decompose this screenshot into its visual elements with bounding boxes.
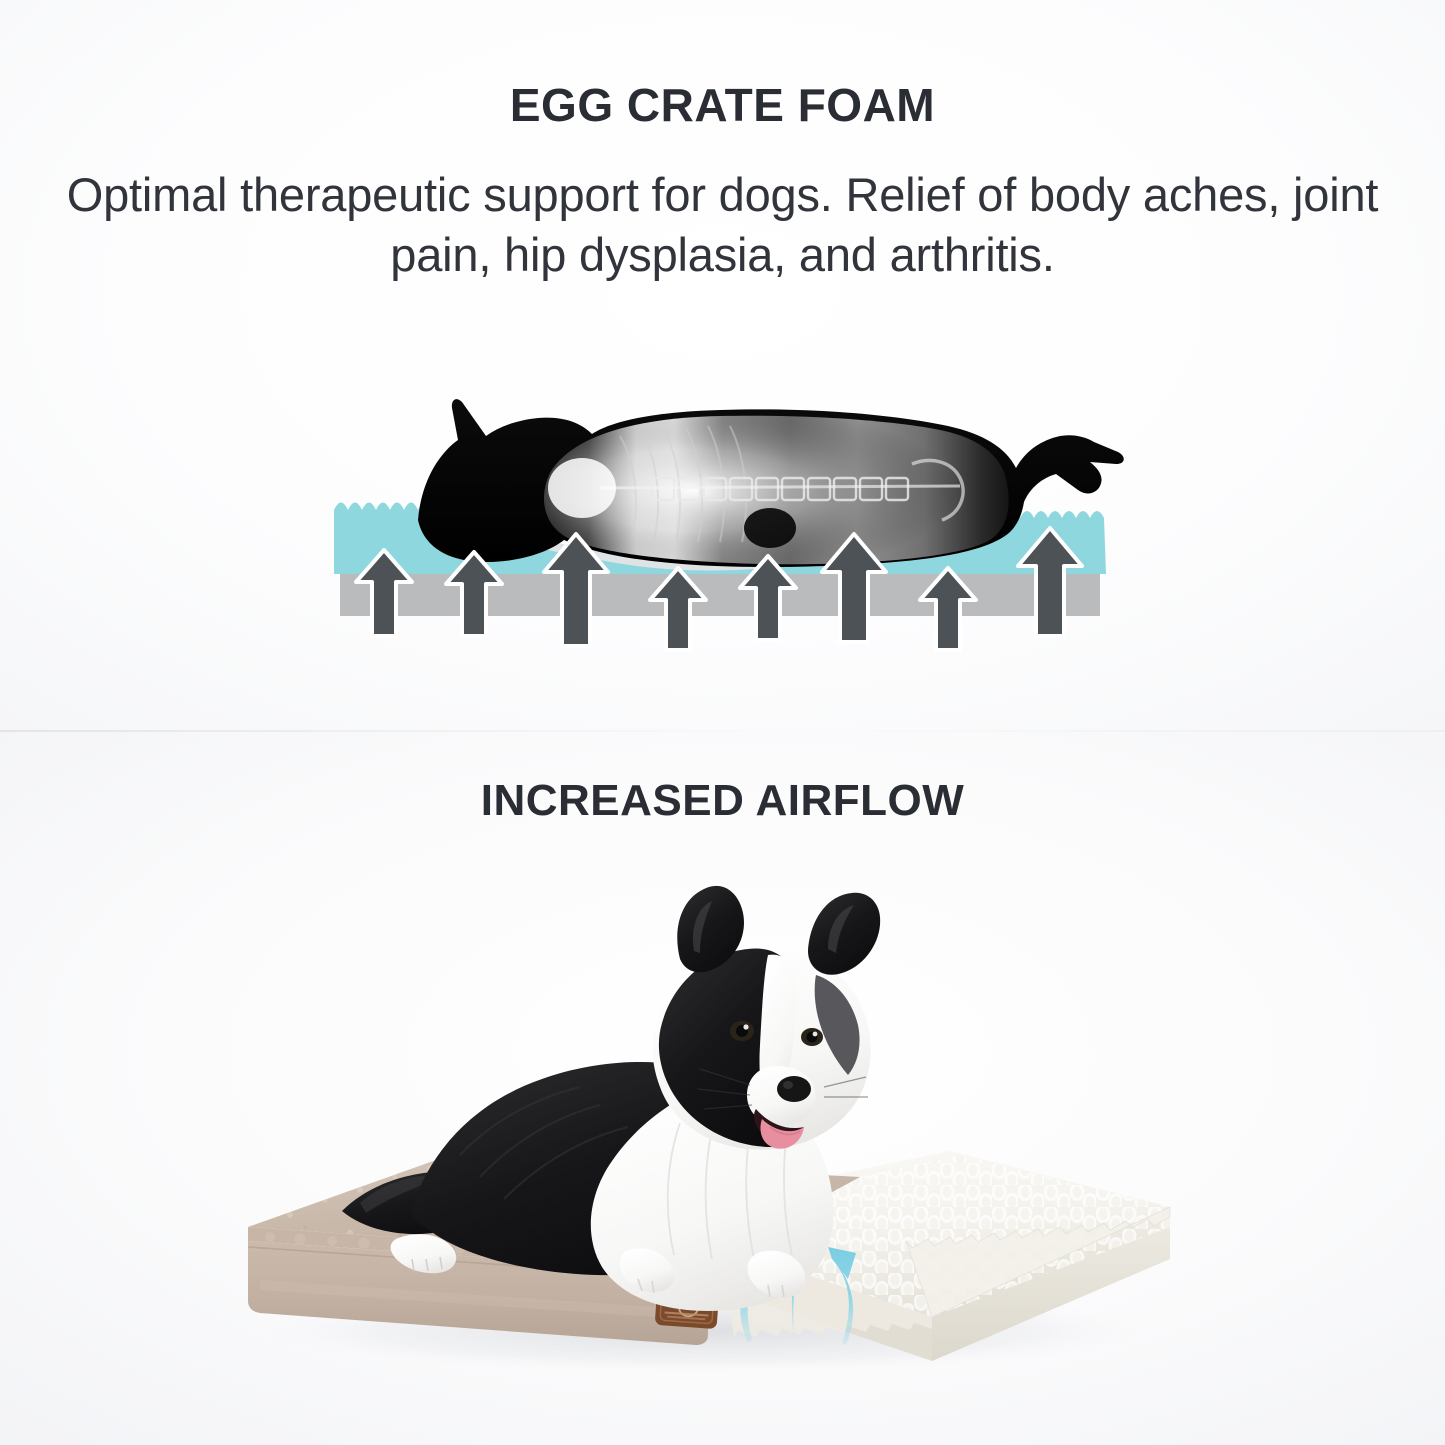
spine-xray xyxy=(540,408,1020,573)
therapeutic-support-diagram xyxy=(300,378,1140,660)
border-collie xyxy=(342,886,880,1311)
panel-subtitle-egg-crate-foam: Optimal therapeutic support for dogs. Re… xyxy=(58,165,1388,285)
panel-headline-egg-crate-foam: EGG CRATE FOAM xyxy=(0,78,1445,132)
panel-headline-increased-airflow: INCREASED AIRFLOW xyxy=(0,776,1445,826)
infographic-page: EGG CRATE FOAM Optimal therapeutic suppo… xyxy=(0,0,1445,1445)
dog-bed-scene xyxy=(160,855,1290,1395)
dog-nose xyxy=(777,1076,811,1102)
